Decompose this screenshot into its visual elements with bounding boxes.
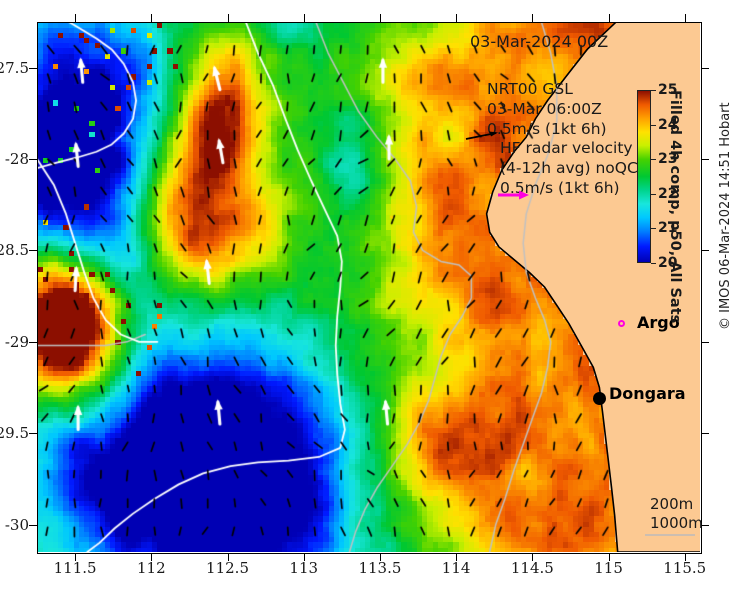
timestamp-annotation: 03-Mar-2024 00Z xyxy=(470,32,608,51)
imos-credit-text: © IMOS 06-Mar-2024 14:51 Hobart xyxy=(718,102,733,330)
colorbar-tick xyxy=(651,125,656,126)
x-tick xyxy=(75,14,76,22)
hf-line-2: (4-12h avg) noQC xyxy=(500,159,638,177)
y-tick xyxy=(29,525,37,526)
x-tick xyxy=(456,14,457,22)
y-tick xyxy=(29,433,37,434)
colorbar-tick xyxy=(651,228,656,229)
y-tick-label: -28 xyxy=(5,150,29,168)
y-tick xyxy=(701,342,709,343)
colorbar-gradient xyxy=(638,91,650,262)
x-tick-label: 112 xyxy=(137,559,166,577)
y-tick-label: -30 xyxy=(5,516,29,534)
y-tick xyxy=(29,250,37,251)
y-tick xyxy=(29,342,37,343)
x-tick xyxy=(532,14,533,22)
x-tick-label: 112.5 xyxy=(206,559,249,577)
hf-reference-arrow xyxy=(495,184,539,204)
x-tick-label: 113 xyxy=(289,559,318,577)
colorbar-tick xyxy=(651,90,656,91)
x-tick-label: 114 xyxy=(442,559,471,577)
y-tick-label: -27.5 xyxy=(0,59,29,77)
dongara-city-label: Dongara xyxy=(609,384,686,403)
figure-canvas: 111.5112112.5113113.5114114.5115115.5 -2… xyxy=(0,0,740,592)
colorbar-tick xyxy=(651,194,656,195)
bathymetry-label-leader xyxy=(645,533,695,537)
colorbar-tick xyxy=(651,263,656,264)
x-tick xyxy=(304,14,305,22)
x-tick-label: 111.5 xyxy=(54,559,97,577)
y-tick xyxy=(701,250,709,251)
y-tick xyxy=(701,68,709,69)
gsl-line-1: NRT00 GSL xyxy=(487,80,573,98)
x-tick xyxy=(609,14,610,22)
colorbar-tick xyxy=(651,159,656,160)
gsl-line-2: 03-Mar 06:00Z xyxy=(487,100,602,118)
colorbar-title: Filled 4h comp, p50, All Sats xyxy=(663,90,683,263)
y-tick xyxy=(701,433,709,434)
y-tick xyxy=(29,68,37,69)
x-tick xyxy=(380,14,381,22)
x-tick xyxy=(685,14,686,22)
y-tick-label: -29 xyxy=(5,333,29,351)
colorbar[interactable] xyxy=(637,90,651,263)
x-tick-label: 113.5 xyxy=(358,559,401,577)
x-tick xyxy=(151,14,152,22)
y-tick-label: -29.5 xyxy=(0,424,29,442)
y-tick xyxy=(29,159,37,160)
x-tick-label: 115.5 xyxy=(663,559,706,577)
hf-line-1: HF radar velocity xyxy=(500,139,633,157)
bathymetry-label-200m: 200m xyxy=(650,495,693,513)
x-tick-label: 114.5 xyxy=(511,559,554,577)
dongara-city-marker xyxy=(593,392,606,405)
y-tick-label: -28.5 xyxy=(0,241,29,259)
x-tick-label: 115 xyxy=(594,559,623,577)
argo-legend-marker xyxy=(618,320,625,327)
bathymetry-label-1000m: 1000m xyxy=(650,514,703,532)
x-tick xyxy=(228,14,229,22)
y-tick xyxy=(701,159,709,160)
